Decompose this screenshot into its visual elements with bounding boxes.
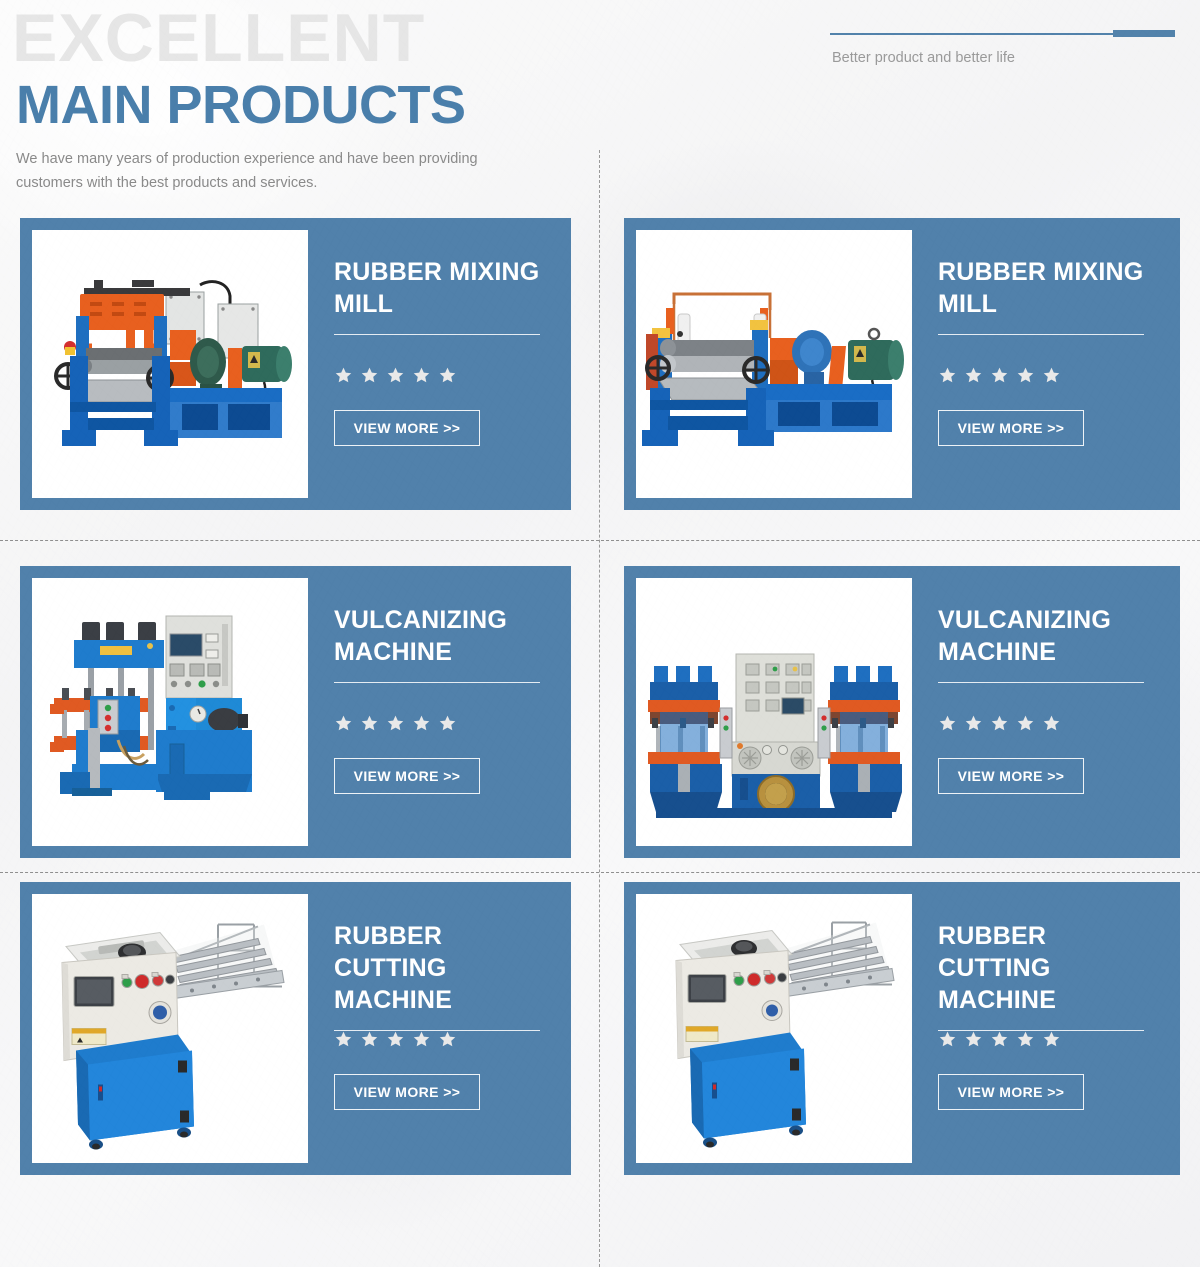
product-title: VULCANIZING MACHINE <box>938 604 1150 668</box>
view-more-button[interactable]: VIEW MORE >> <box>334 758 480 794</box>
product-title: RUBBER MIXING MILL <box>938 256 1150 320</box>
star-icon <box>412 366 431 385</box>
star-icon <box>438 714 457 733</box>
star-icon <box>990 1030 1009 1049</box>
product-card[interactable]: RUBBER MIXING MILL VIEW MORE >> <box>20 218 571 510</box>
rating-stars <box>938 1030 1061 1049</box>
view-more-button[interactable]: VIEW MORE >> <box>938 410 1084 446</box>
product-grid: RUBBER MIXING MILL VIEW MORE >> <box>0 0 1200 1267</box>
star-icon <box>360 1030 379 1049</box>
product-card[interactable]: RUBBER MIXING MILL VIEW MORE >> <box>624 218 1180 510</box>
product-card-body: RUBBER CUTTING MACHINE VIEW MORE >> <box>912 882 1180 1175</box>
product-image-rubber-mixing-mill-orange-guard <box>32 230 308 498</box>
product-card-body: RUBBER MIXING MILL VIEW MORE >> <box>308 218 571 510</box>
star-icon <box>938 366 957 385</box>
product-card[interactable]: VULCANIZING MACHINE VIEW MORE >> <box>624 566 1180 858</box>
star-icon <box>990 366 1009 385</box>
star-icon <box>412 1030 431 1049</box>
rating-stars <box>938 714 1061 733</box>
title-underline <box>938 334 1144 335</box>
star-icon <box>964 714 983 733</box>
star-icon <box>386 366 405 385</box>
star-icon <box>334 1030 353 1049</box>
product-card-body: VULCANIZING MACHINE VIEW MORE >> <box>912 566 1180 858</box>
title-underline <box>334 682 540 683</box>
product-card[interactable]: RUBBER CUTTING MACHINE VIEW MORE >> <box>624 882 1180 1175</box>
view-more-button[interactable]: VIEW MORE >> <box>938 758 1084 794</box>
rating-stars <box>334 714 457 733</box>
star-icon <box>1016 366 1035 385</box>
rating-stars <box>334 1030 457 1049</box>
product-image-vulcanizing-machine-twin-station <box>636 578 912 846</box>
star-icon <box>334 366 353 385</box>
product-card[interactable]: RUBBER CUTTING MACHINE VIEW MORE >> <box>20 882 571 1175</box>
rating-stars <box>334 366 457 385</box>
star-icon <box>938 714 957 733</box>
product-card-body: RUBBER MIXING MILL VIEW MORE >> <box>912 218 1180 510</box>
star-icon <box>438 1030 457 1049</box>
star-icon <box>1042 714 1061 733</box>
star-icon <box>1042 1030 1061 1049</box>
star-icon <box>360 714 379 733</box>
product-title: VULCANIZING MACHINE <box>334 604 541 668</box>
star-icon <box>334 714 353 733</box>
star-icon <box>360 366 379 385</box>
star-icon <box>386 1030 405 1049</box>
star-icon <box>1016 1030 1035 1049</box>
view-more-button[interactable]: VIEW MORE >> <box>938 1074 1084 1110</box>
product-image-rubber-cutting-machine-right <box>636 894 912 1163</box>
star-icon <box>1016 714 1035 733</box>
product-image-rubber-mixing-mill-open-roll <box>636 230 912 498</box>
star-icon <box>412 714 431 733</box>
product-title: RUBBER MIXING MILL <box>334 256 541 320</box>
title-underline <box>938 682 1144 683</box>
star-icon <box>964 366 983 385</box>
star-icon <box>938 1030 957 1049</box>
view-more-button[interactable]: VIEW MORE >> <box>334 1074 480 1110</box>
product-title: RUBBER CUTTING MACHINE <box>334 920 541 1016</box>
product-card-body: VULCANIZING MACHINE VIEW MORE >> <box>308 566 571 858</box>
product-showcase-page: EXCELLENT MAIN PRODUCTS We have many yea… <box>0 0 1200 1267</box>
rating-stars <box>938 366 1061 385</box>
star-icon <box>964 1030 983 1049</box>
title-underline <box>334 334 540 335</box>
product-card-body: RUBBER CUTTING MACHINE VIEW MORE >> <box>308 882 571 1175</box>
product-image-rubber-cutting-machine-left <box>32 894 308 1163</box>
star-icon <box>990 714 1009 733</box>
product-image-vulcanizing-machine-single-station <box>32 578 308 846</box>
star-icon <box>438 366 457 385</box>
star-icon <box>1042 366 1061 385</box>
view-more-button[interactable]: VIEW MORE >> <box>334 410 480 446</box>
star-icon <box>386 714 405 733</box>
product-card[interactable]: VULCANIZING MACHINE VIEW MORE >> <box>20 566 571 858</box>
product-title: RUBBER CUTTING MACHINE <box>938 920 1150 1016</box>
